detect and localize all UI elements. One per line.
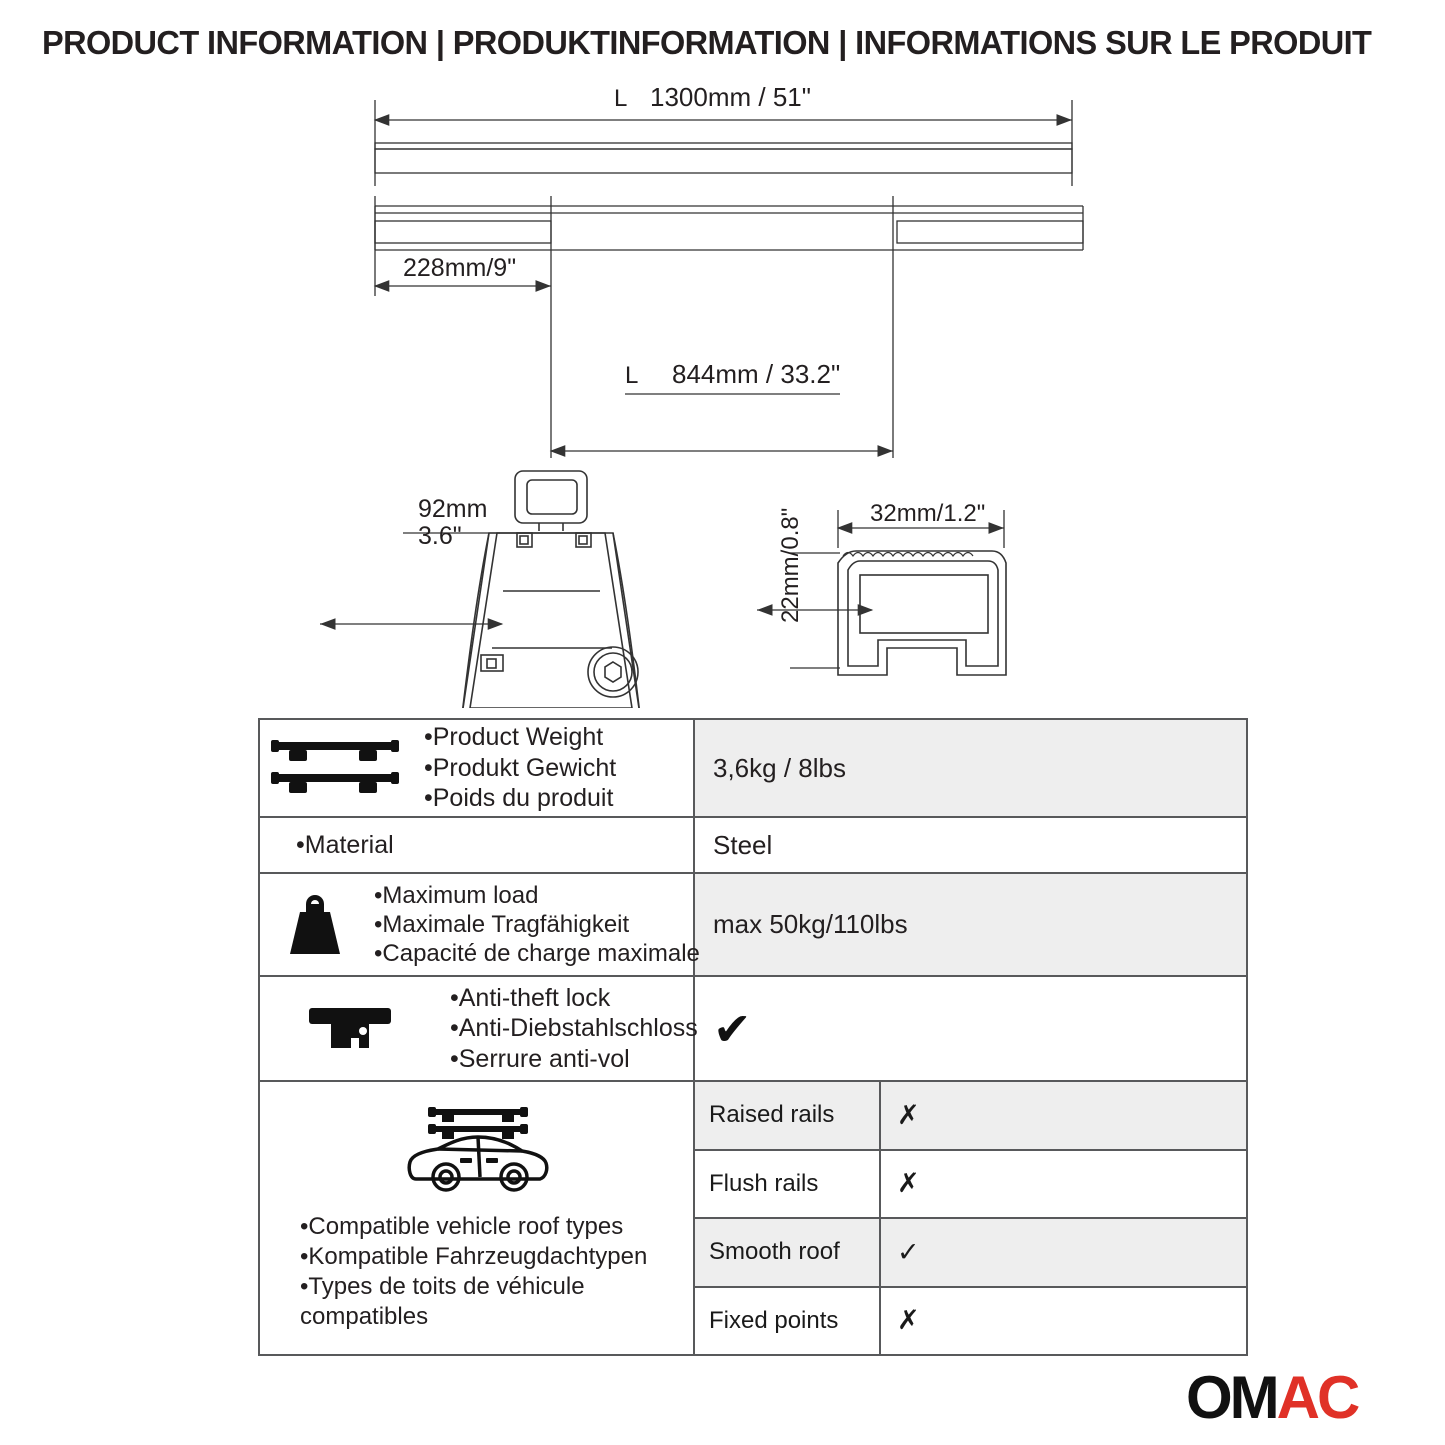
check-icon: ✓: [881, 1219, 1246, 1286]
roof-type-name: Raised rails: [695, 1082, 881, 1149]
row-bullets: •Maximum load •Maximale Tragfähigkeit •C…: [374, 881, 700, 969]
roof-type-row-fixed-points: Fixed points ✗: [695, 1288, 1246, 1355]
spec-table: •Product Weight •Produkt Gewicht •Poids …: [258, 718, 1248, 1356]
logo-red-part: AC: [1277, 1364, 1358, 1431]
roof-bars-icon: [260, 736, 410, 800]
foot-height-line1: 92mm: [418, 495, 487, 523]
row-value-maximum-load: max 50kg/110lbs: [695, 874, 1246, 975]
row-value-product-weight: 3,6kg / 8lbs: [695, 720, 1246, 816]
table-row-roof-types: •Compatible vehicle roof types •Kompatib…: [260, 1082, 1246, 1354]
bullet-line: •Product Weight: [424, 722, 616, 753]
weight-icon: [260, 890, 370, 960]
bullet-line: •Types de toits de véhicule compatibles: [300, 1272, 695, 1332]
check-icon: ✔: [713, 1006, 752, 1052]
cross-icon: ✗: [881, 1288, 1246, 1355]
omac-logo: OMAC: [1186, 1368, 1357, 1428]
bullet-line: •Poids du produit: [424, 783, 616, 814]
roof-type-row-smooth-roof: Smooth roof ✓: [695, 1219, 1246, 1288]
table-row: •Maximum load •Maximale Tragfähigkeit •C…: [260, 874, 1246, 977]
row-label-material: •Material: [260, 818, 695, 872]
bullet-line: •Maximale Tragfähigkeit: [374, 910, 700, 939]
bullet-line: •Capacité de charge maximale: [374, 939, 700, 968]
row-bullets: •Material: [296, 830, 394, 861]
row-label-maximum-load: •Maximum load •Maximale Tragfähigkeit •C…: [260, 874, 695, 975]
profile-width-value: 32mm/1.2": [870, 500, 985, 527]
roof-type-name: Smooth roof: [695, 1219, 881, 1286]
bullet-line: •Material: [296, 830, 394, 861]
bullet-line: •Anti-Diebstahlschloss: [450, 1013, 698, 1044]
bullet-line: •Serrure anti-vol: [450, 1044, 698, 1075]
row-label-product-weight: •Product Weight •Produkt Gewicht •Poids …: [260, 720, 695, 816]
cross-icon: ✗: [881, 1151, 1246, 1218]
row-value-anti-theft-lock: ✔: [695, 977, 1246, 1080]
span-prefix: L: [625, 362, 638, 389]
roof-type-row-raised-rails: Raised rails ✗: [695, 1082, 1246, 1151]
bar-length-prefix: L: [614, 85, 627, 112]
roof-type-options: Raised rails ✗ Flush rails ✗ Smooth roof…: [695, 1082, 1246, 1354]
profile-height-value: 22mm/0.8": [777, 508, 804, 623]
page-title: PRODUCT INFORMATION | PRODUKTINFORMATION…: [42, 24, 1391, 62]
row-label-roof-types: •Compatible vehicle roof types •Kompatib…: [260, 1082, 695, 1354]
bullet-line: •Kompatible Fahrzeugdachtypen: [300, 1242, 695, 1272]
table-row: •Anti-theft lock •Anti-Diebstahlschloss …: [260, 977, 1246, 1082]
bullet-line: •Compatible vehicle roof types: [300, 1212, 695, 1242]
bullet-line: •Anti-theft lock: [450, 983, 698, 1014]
roof-type-name: Fixed points: [695, 1288, 881, 1355]
row-bullets: •Anti-theft lock •Anti-Diebstahlschloss …: [450, 983, 698, 1075]
span-value: 844mm / 33.2": [672, 359, 840, 389]
row-bullets: •Product Weight •Produkt Gewicht •Poids …: [424, 722, 616, 814]
technical-drawing: L 1300mm / 51" 228mm/9" L 844mm / 33.2" …: [0, 78, 1445, 708]
end-offset-value: 228mm/9": [403, 254, 516, 282]
foot-height-line2: 3.6": [418, 522, 462, 550]
cross-icon: ✗: [881, 1082, 1246, 1149]
table-row: •Material Steel: [260, 818, 1246, 874]
logo-dark-part: OM: [1186, 1364, 1277, 1431]
car-with-rack-icon: [402, 1105, 552, 1202]
row-label-anti-theft-lock: •Anti-theft lock •Anti-Diebstahlschloss …: [260, 977, 695, 1080]
row-bullets: •Compatible vehicle roof types •Kompatib…: [300, 1212, 695, 1332]
row-value-material: Steel: [695, 818, 1246, 872]
bullet-line: •Maximum load: [374, 881, 700, 910]
bullet-line: •Produkt Gewicht: [424, 753, 616, 784]
bar-length-value: 1300mm / 51": [650, 82, 811, 112]
roof-type-name: Flush rails: [695, 1151, 881, 1218]
lock-icon: [260, 1002, 440, 1056]
table-row: •Product Weight •Produkt Gewicht •Poids …: [260, 720, 1246, 818]
roof-type-row-flush-rails: Flush rails ✗: [695, 1151, 1246, 1220]
